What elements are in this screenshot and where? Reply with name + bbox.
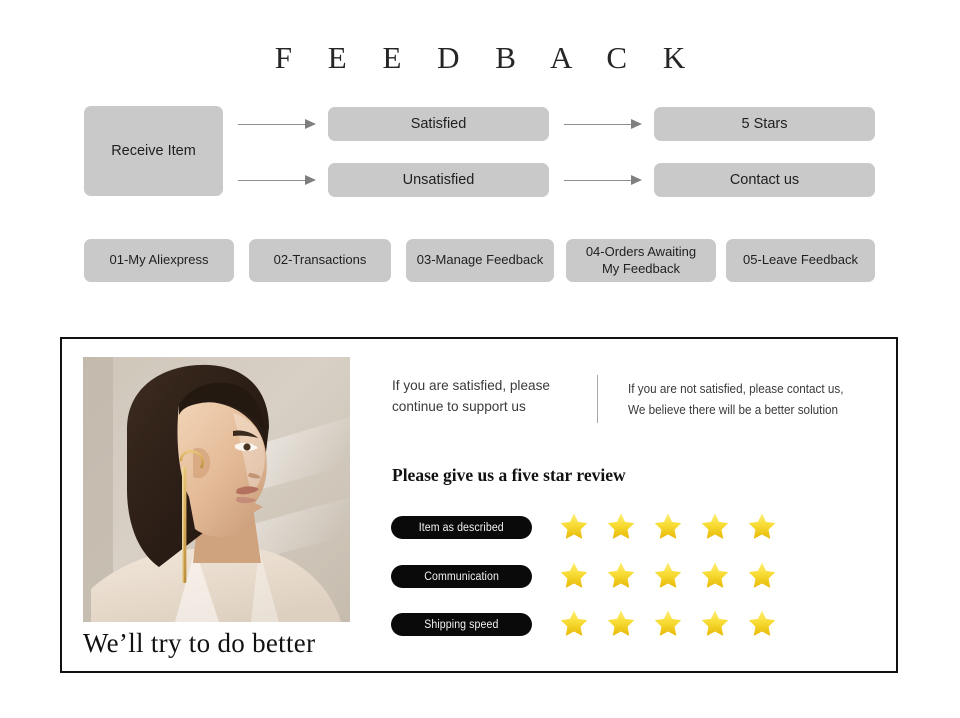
- star-icon[interactable]: [606, 608, 636, 638]
- arrow-unsatisfied-to-contact-us-icon: [564, 175, 642, 185]
- flow-box-5-stars: 5 Stars: [654, 107, 875, 141]
- rating-label-communication: Communication: [391, 565, 532, 588]
- blurb-divider: [597, 375, 598, 423]
- rating-count: 5: [391, 514, 392, 515]
- flow-box-unsatisfied: Unsatisfied: [328, 163, 549, 197]
- flow-box-contact-us-label: Contact us: [730, 171, 799, 189]
- flow-box-satisfied: Satisfied: [328, 107, 549, 141]
- model-photo-illustration: [83, 357, 350, 622]
- rating-stars-communication[interactable]: [559, 560, 777, 590]
- star-icon[interactable]: [700, 511, 730, 541]
- flow-box-contact-us: Contact us: [654, 163, 875, 197]
- star-icon[interactable]: [747, 608, 777, 638]
- step-label: 01-My Aliexpress: [110, 252, 209, 268]
- rating-label-item-as-described: Item as described: [391, 516, 532, 539]
- step-item-02-transactions: 02-Transactions: [249, 239, 391, 282]
- arrow-shaft: [238, 180, 306, 181]
- panel-tagline: We’ll try to do better: [83, 628, 315, 659]
- step-label: 02-Transactions: [274, 252, 367, 268]
- review-request-heading: Please give us a five star review: [392, 465, 626, 486]
- blurb-satisfied: If you are satisfied, please continue to…: [392, 375, 582, 417]
- arrow-receive-to-unsatisfied-icon: [238, 175, 316, 185]
- rating-count: 5: [391, 611, 392, 612]
- rating-stars-shipping-speed[interactable]: [559, 608, 777, 638]
- rating-row: Communication 5: [391, 563, 791, 595]
- rating-label-text: Shipping speed: [424, 619, 498, 631]
- flow-box-receive-item-label: Receive Item: [111, 142, 196, 160]
- rating-row: Item as described 5: [391, 514, 791, 546]
- star-icon[interactable]: [559, 608, 589, 638]
- flow-box-satisfied-label: Satisfied: [411, 115, 467, 133]
- star-icon[interactable]: [559, 511, 589, 541]
- arrow-satisfied-to-5-stars-icon: [564, 119, 642, 129]
- star-icon[interactable]: [653, 511, 683, 541]
- model-photo: [83, 357, 350, 622]
- star-icon[interactable]: [653, 608, 683, 638]
- arrow-head: [305, 175, 316, 185]
- arrow-shaft: [564, 124, 632, 125]
- flow-box-unsatisfied-label: Unsatisfied: [403, 171, 475, 189]
- step-label: 05-Leave Feedback: [743, 252, 858, 268]
- arrow-head: [631, 175, 642, 185]
- rating-count: 5: [391, 563, 392, 564]
- star-icon[interactable]: [653, 560, 683, 590]
- step-label: 03-Manage Feedback: [417, 252, 543, 268]
- arrow-shaft: [564, 180, 632, 181]
- star-icon[interactable]: [747, 560, 777, 590]
- arrow-head: [305, 119, 316, 129]
- rating-stars-item-as-described[interactable]: [559, 511, 777, 541]
- rating-label-text: Item as described: [419, 522, 504, 534]
- star-icon[interactable]: [700, 608, 730, 638]
- arrow-shaft: [238, 124, 306, 125]
- step-label: 04-Orders Awaiting My Feedback: [586, 244, 696, 277]
- star-icon[interactable]: [747, 511, 777, 541]
- flow-box-5-stars-label: 5 Stars: [742, 115, 788, 133]
- blurb-not-satisfied: If you are not satisfied, please contact…: [628, 379, 861, 421]
- star-icon[interactable]: [606, 511, 636, 541]
- rating-label-shipping-speed: Shipping speed: [391, 613, 532, 636]
- arrow-receive-to-satisfied-icon: [238, 119, 316, 129]
- step-item-01-my-aliexpress: 01-My Aliexpress: [84, 239, 234, 282]
- arrow-head: [631, 119, 642, 129]
- step-item-05-leave-feedback: 05-Leave Feedback: [726, 239, 875, 282]
- flow-box-receive-item: Receive Item: [84, 106, 223, 196]
- star-icon[interactable]: [700, 560, 730, 590]
- rating-row: Shipping speed 5: [391, 611, 791, 643]
- star-icon[interactable]: [606, 560, 636, 590]
- step-item-03-manage-feedback: 03-Manage Feedback: [406, 239, 554, 282]
- rating-label-text: Communication: [424, 571, 499, 583]
- step-item-04-orders-awaiting-my-feedback: 04-Orders Awaiting My Feedback: [566, 239, 716, 282]
- star-icon[interactable]: [559, 560, 589, 590]
